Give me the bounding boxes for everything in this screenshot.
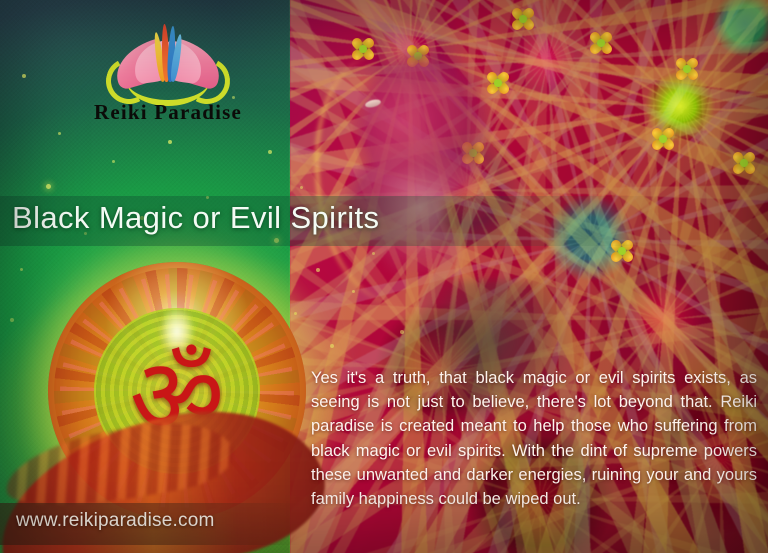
reiki-paradise-poster: ॐ Black Magic or Evil Spirits Reiki Para… <box>0 0 768 553</box>
lotus-flame-icon <box>112 22 224 94</box>
page-title: Black Magic or Evil Spirits <box>12 200 379 236</box>
brand-name: Reiki Paradise <box>88 100 248 125</box>
brand-logo[interactable]: Reiki Paradise <box>88 22 248 130</box>
website-url[interactable]: www.reikiparadise.com <box>16 510 215 532</box>
fractal-flower-node <box>733 152 755 174</box>
fractal-flower-node <box>590 32 612 54</box>
fractal-flower-node <box>676 58 698 80</box>
fractal-flower-node <box>652 128 674 150</box>
rainbow-flame-icon <box>155 20 181 82</box>
body-paragraph: Yes it's a truth, that black magic or ev… <box>311 366 757 511</box>
